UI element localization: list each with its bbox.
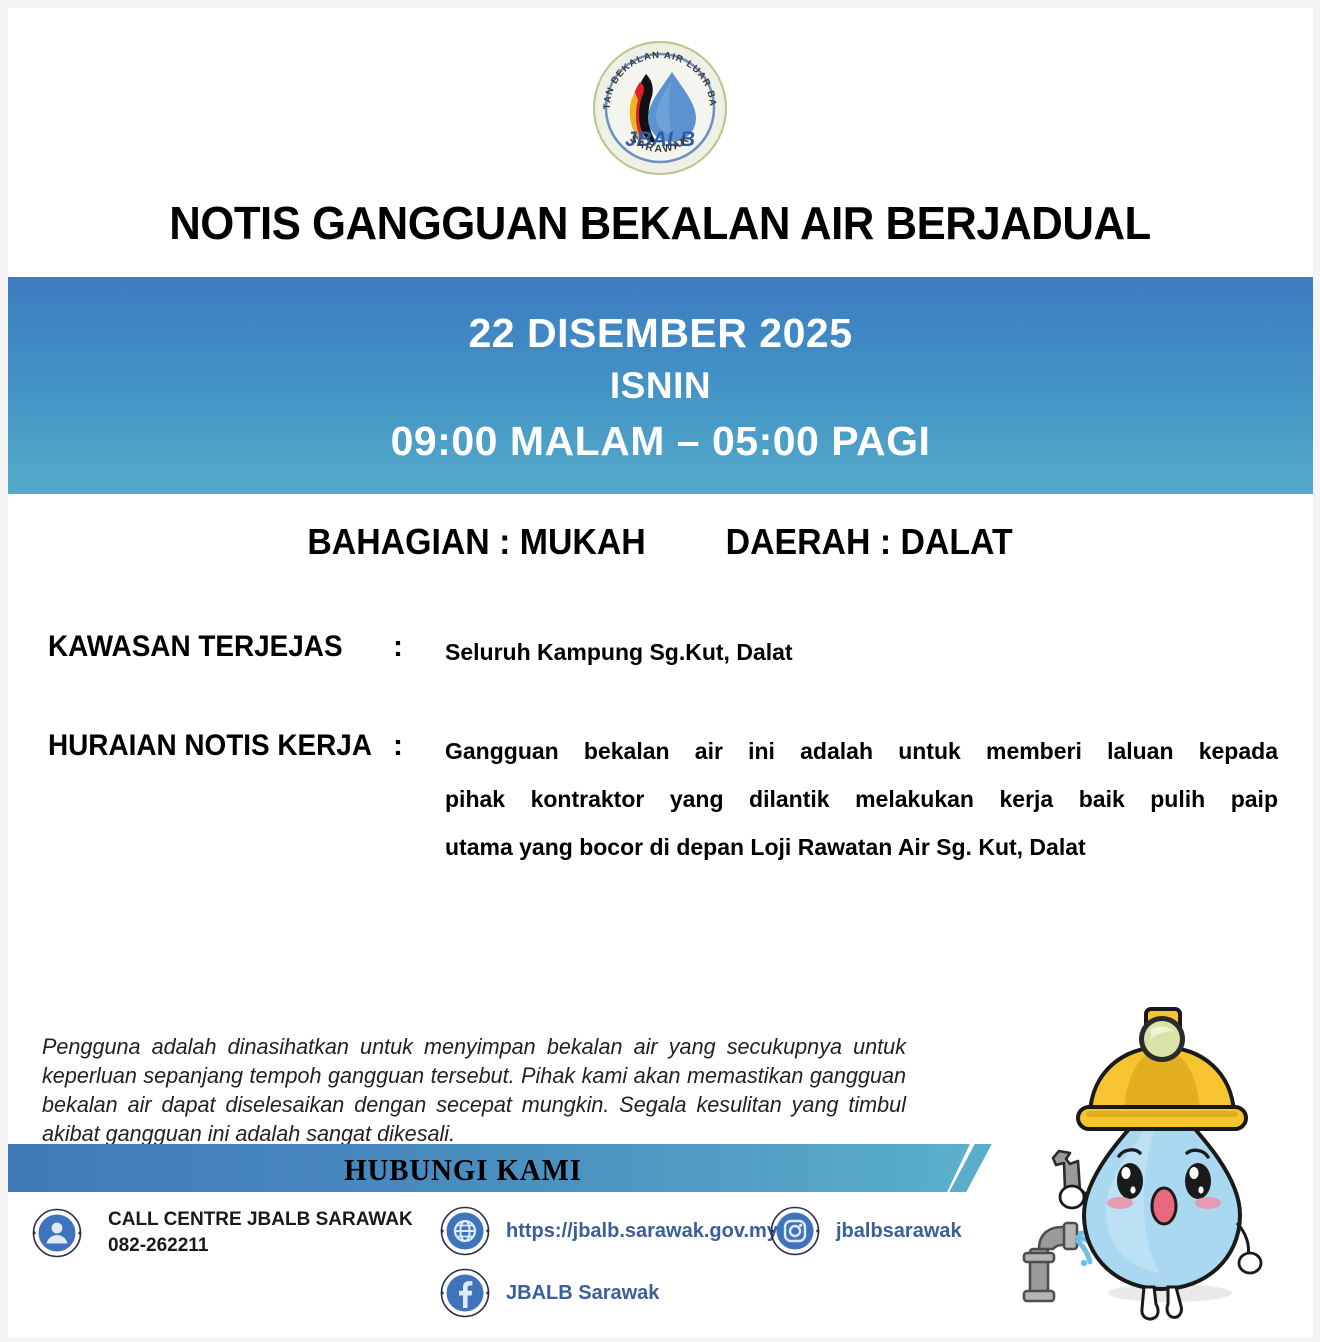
facebook-icon <box>440 1268 490 1318</box>
work-description-value: Gangguan bekalan air ini adalah untuk me… <box>445 727 1278 871</box>
affected-area-colon: : <box>393 628 445 666</box>
work-description-line-1: Gangguan bekalan air ini adalah untuk me… <box>445 727 1278 775</box>
instagram-handle[interactable]: jbalbsarawak <box>836 1218 962 1244</box>
date-banner: 22 DISEMBER 2025 ISNIN 09:00 MALAM – 05:… <box>8 277 1313 494</box>
affected-area-value: Seluruh Kampung Sg.Kut, Dalat <box>445 628 1278 676</box>
call-centre-name: CALL CENTRE JBALB SARAWAK <box>108 1207 413 1233</box>
contact-website[interactable]: https://jbalb.sarawak.gov.my/ <box>440 1206 783 1256</box>
instagram-icon <box>770 1206 820 1256</box>
website-url[interactable]: https://jbalb.sarawak.gov.my/ <box>506 1218 783 1244</box>
call-centre-text: CALL CENTRE JBALB SARAWAK 082-262211 <box>108 1207 413 1259</box>
hard-hat <box>1078 1009 1246 1129</box>
page-edge-right <box>1313 0 1320 1342</box>
contact-facebook[interactable]: JBALB Sarawak <box>440 1268 659 1318</box>
division-district-row: BAHAGIAN : MUKAH DAERAH : DALAT <box>40 521 1281 563</box>
page-edge-bottom <box>0 1338 1320 1342</box>
page-edge-top <box>0 0 1320 8</box>
contact-call-centre[interactable]: CALL CENTRE JBALB SARAWAK 082-262211 <box>32 1207 413 1259</box>
work-description-label: HURAIAN NOTIS KERJA <box>48 727 369 765</box>
affected-area-row: KAWASAN TERJEJAS : Seluruh Kampung Sg.Ku… <box>48 628 1278 676</box>
work-description-row: HURAIAN NOTIS KERJA : Gangguan bekalan a… <box>48 727 1278 871</box>
work-description-line-2: pihak kontraktor yang dilantik melakukan… <box>445 775 1278 823</box>
advisory-text: Pengguna adalah dinasihatkan untuk menyi… <box>42 1032 906 1148</box>
work-description-colon: : <box>393 727 445 765</box>
globe-icon <box>440 1206 490 1256</box>
page-edge-left <box>0 0 8 1342</box>
notice-day: ISNIN <box>8 359 1313 413</box>
page-title: NOTIS GANGGUAN BEKALAN AIR BERJADUAL <box>33 196 1287 250</box>
division-label: BAHAGIAN : MUKAH <box>307 521 645 562</box>
affected-area-label: KAWASAN TERJEJAS <box>48 628 369 666</box>
notice-poster: JBALB JABATAN BEKALAN AIR LUAR BANDAR SA… <box>0 0 1320 1342</box>
jbalb-logo: JBALB JABATAN BEKALAN AIR LUAR BANDAR SA… <box>590 38 730 178</box>
contact-banner-title: HUBUNGI KAMI <box>40 1152 886 1188</box>
contact-instagram[interactable]: jbalbsarawak <box>770 1206 962 1256</box>
notice-date: 22 DISEMBER 2025 <box>8 307 1313 359</box>
person-icon <box>32 1208 82 1258</box>
district-label: DAERAH : DALAT <box>726 521 1013 562</box>
call-centre-number: 082-262211 <box>108 1233 413 1259</box>
water-droplet-worker-mascot <box>1012 1001 1312 1337</box>
facebook-handle[interactable]: JBALB Sarawak <box>506 1280 659 1306</box>
notice-time-range: 09:00 MALAM – 05:00 PAGI <box>8 413 1313 469</box>
work-description-line-3: utama yang bocor di depan Loji Rawatan A… <box>445 823 1278 871</box>
